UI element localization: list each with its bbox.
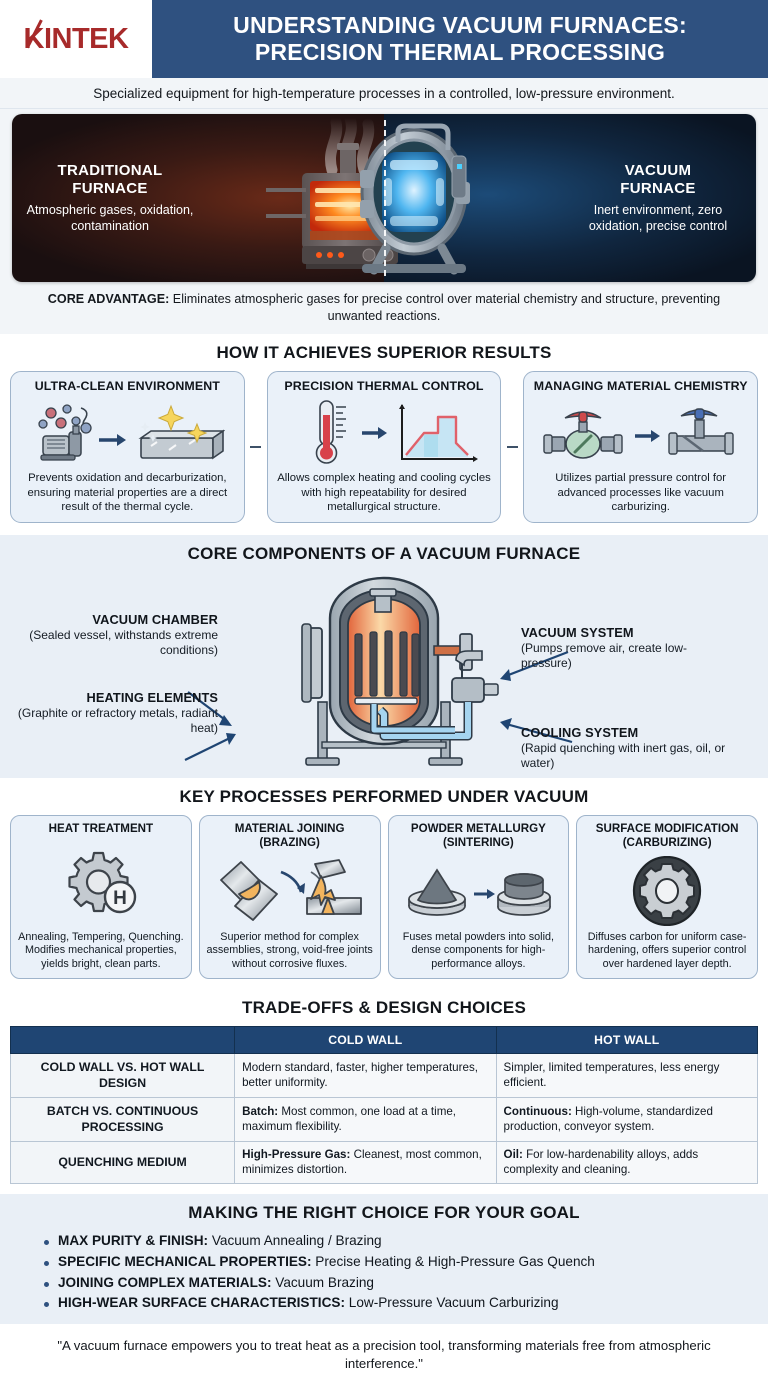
- vacuum-desc: Inert environment, zero oxidation, preci…: [570, 202, 746, 234]
- label-heating-elements: HEATING ELEMENTS (Graphite or refractory…: [8, 690, 218, 735]
- hardened-gear-icon: [628, 850, 706, 931]
- thermometer-to-thermal-curve-icon: [286, 394, 482, 471]
- label-name: COOLING SYSTEM: [521, 725, 731, 740]
- core-advantage-text: Eliminates atmospheric gases for precise…: [169, 292, 720, 323]
- tradeoffs-section-title: TRADE-OFFS & DESIGN CHOICES: [0, 989, 768, 1026]
- traditional-desc: Atmospheric gases, oxidation, contaminat…: [22, 202, 198, 234]
- brazed-joint-icon: [215, 850, 365, 931]
- cell-text: Modern standard, faster, higher temperat…: [242, 1061, 478, 1089]
- traditional-title-2: FURNACE: [22, 180, 198, 197]
- table-header-row: COLD WALL HOT WALL: [11, 1027, 758, 1054]
- tradeoffs-table: COLD WALL HOT WALL COLD WALL VS. HOT WAL…: [10, 1026, 758, 1184]
- card-managing-material-chemistry: MANAGING MATERIAL CHEMISTRY: [523, 371, 758, 523]
- how-card-row: ULTRA-CLEAN ENVIRONMENT: [0, 371, 768, 535]
- table-row: COLD WALL VS. HOT WALL DESIGN Modern sta…: [11, 1054, 758, 1098]
- core-advantage: CORE ADVANTAGE: Eliminates atmospheric g…: [0, 282, 768, 334]
- traditional-furnace-text: TRADITIONAL FURNACE Atmospheric gases, o…: [12, 162, 198, 234]
- pcard-title-2: (BRAZING): [259, 836, 320, 850]
- pcard-title-1: POWDER METALLURGY: [411, 822, 546, 836]
- card-connector-1: [245, 371, 267, 523]
- choices-list: MAX PURITY & FINISH: Vacuum Annealing / …: [0, 1231, 768, 1314]
- table-col-hot-wall: HOT WALL: [496, 1027, 757, 1054]
- label-name: VACUUM SYSTEM: [521, 625, 731, 640]
- cell-bold: High-Pressure Gas:: [242, 1148, 350, 1161]
- choice-value: Precise Heating & High-Pressure Gas Quen…: [312, 1254, 595, 1269]
- list-item: MAX PURITY & FINISH: Vacuum Annealing / …: [44, 1231, 746, 1252]
- furnace-diagram-area: VACUUM CHAMBER (Sealed vessel, withstand…: [0, 572, 768, 772]
- table-row: QUENCHING MEDIUM High-Pressure Gas: Clea…: [11, 1142, 758, 1184]
- pcard-title-1: SURFACE MODIFICATION: [596, 822, 739, 836]
- cell-bold: Oil:: [504, 1148, 523, 1161]
- card-powder-metallurgy: POWDER METALLURGY (SINTERING): [388, 815, 570, 979]
- list-item: SPECIFIC MECHANICAL PROPERTIES: Precise …: [44, 1252, 746, 1273]
- page-title: UNDERSTANDING VACUUM FURNACES: PRECISION…: [152, 0, 768, 78]
- pull-quote: "A vacuum furnace empowers you to treat …: [0, 1324, 768, 1376]
- tradeoffs-section: TRADE-OFFS & DESIGN CHOICES COLD WALL HO…: [0, 989, 768, 1194]
- label-desc: (Sealed vessel, withstands extreme condi…: [8, 628, 218, 657]
- vacuum-furnace-text: VACUUM FURNACE Inert environment, zero o…: [570, 162, 756, 234]
- choices-section-title: MAKING THE RIGHT CHOICE FOR YOUR GOAL: [0, 1194, 768, 1231]
- powder-to-compact-icon: [404, 850, 552, 931]
- cell-bold: Continuous:: [504, 1105, 572, 1118]
- table-row: BATCH VS. CONTINUOUS PROCESSING Batch: M…: [11, 1098, 758, 1142]
- card-desc: Allows complex heating and cooling cycle…: [276, 471, 493, 514]
- valve-to-valve-icon: [543, 394, 739, 471]
- choice-label: JOINING COMPLEX MATERIALS:: [58, 1275, 271, 1290]
- choice-value: Vacuum Brazing: [271, 1275, 374, 1290]
- how-section: HOW IT ACHIEVES SUPERIOR RESULTS ULTRA-C…: [0, 334, 768, 535]
- pcard-desc: Fuses metal powders into solid, dense co…: [394, 931, 564, 971]
- list-item: JOINING COMPLEX MATERIALS: Vacuum Brazin…: [44, 1273, 746, 1294]
- title-line-1: UNDERSTANDING VACUUM FURNACES:: [233, 12, 687, 39]
- choices-section: MAKING THE RIGHT CHOICE FOR YOUR GOAL MA…: [0, 1194, 768, 1324]
- row-label: COLD WALL VS. HOT WALL DESIGN: [11, 1054, 235, 1098]
- row-hot-wall-cell: Continuous: High-volume, standardized pr…: [496, 1098, 757, 1142]
- card-heat-treatment: HEAT TREATMENT H Annealing, Tempering, Q…: [10, 815, 192, 979]
- choice-label: SPECIFIC MECHANICAL PROPERTIES:: [58, 1254, 312, 1269]
- card-precision-thermal-control: PRECISION THERMAL CONTROL: [267, 371, 502, 523]
- components-section: CORE COMPONENTS OF A VACUUM FURNACE: [0, 535, 768, 778]
- label-desc: (Pumps remove air, create low-pressure): [521, 641, 731, 670]
- svg-text:H: H: [113, 888, 127, 909]
- pcard-desc: Superior method for complex assemblies, …: [205, 931, 375, 971]
- table-col-cold-wall: COLD WALL: [235, 1027, 496, 1054]
- label-vacuum-system: VACUUM SYSTEM (Pumps remove air, create …: [521, 625, 731, 670]
- kintek-logo: KINTEK: [24, 23, 129, 56]
- row-hot-wall-cell: Oil: For low-hardenability alloys, adds …: [496, 1142, 757, 1184]
- card-ultra-clean-environment: ULTRA-CLEAN ENVIRONMENT: [10, 371, 245, 523]
- label-name: HEATING ELEMENTS: [8, 690, 218, 705]
- card-title: ULTRA-CLEAN ENVIRONMENT: [35, 379, 220, 394]
- how-section-title: HOW IT ACHIEVES SUPERIOR RESULTS: [0, 334, 768, 371]
- row-label: BATCH VS. CONTINUOUS PROCESSING: [11, 1098, 235, 1142]
- comparison-divider: [384, 120, 386, 276]
- card-desc: Utilizes partial pressure control for ad…: [532, 471, 749, 514]
- processes-section: KEY PROCESSES PERFORMED UNDER VACUUM HEA…: [0, 778, 768, 989]
- header-bar: KINTEK UNDERSTANDING VACUUM FURNACES: PR…: [0, 0, 768, 78]
- comparison-section: TRADITIONAL FURNACE Atmospheric gases, o…: [0, 109, 768, 282]
- label-desc: (Rapid quenching with inert gas, oil, or…: [521, 741, 731, 770]
- cell-bold: Batch:: [242, 1105, 278, 1118]
- row-cold-wall-cell: High-Pressure Gas: Cleanest, most common…: [235, 1142, 496, 1184]
- card-title: MANAGING MATERIAL CHEMISTRY: [534, 379, 748, 394]
- pcard-desc: Diffuses carbon for uniform case-hardeni…: [582, 931, 752, 971]
- row-hot-wall-cell: Simpler, limited temperatures, less ener…: [496, 1054, 757, 1098]
- components-section-title: CORE COMPONENTS OF A VACUUM FURNACE: [0, 535, 768, 572]
- logo-container: KINTEK: [0, 0, 152, 78]
- pcard-title-1: HEAT TREATMENT: [49, 822, 154, 836]
- label-cooling-system: COOLING SYSTEM (Rapid quenching with ine…: [521, 725, 731, 770]
- infographic-page: KINTEK UNDERSTANDING VACUUM FURNACES: PR…: [0, 0, 768, 1376]
- label-desc: (Graphite or refractory metals, radiant …: [8, 706, 218, 735]
- vacuum-title-2: FURNACE: [570, 180, 746, 197]
- processes-section-title: KEY PROCESSES PERFORMED UNDER VACUUM: [0, 778, 768, 815]
- choice-value: Vacuum Annealing / Brazing: [208, 1233, 382, 1248]
- row-cold-wall-cell: Batch: Most common, one load at a time, …: [235, 1098, 496, 1142]
- card-connector-2: [501, 371, 523, 523]
- processes-card-row: HEAT TREATMENT H Annealing, Tempering, Q…: [0, 815, 768, 989]
- list-item: HIGH-WEAR SURFACE CHARACTERISTICS: Low-P…: [44, 1293, 746, 1314]
- vacuum-furnace-icon: [314, 120, 519, 276]
- vacuum-pump-to-clean-metal-icon: [29, 394, 225, 471]
- label-name: VACUUM CHAMBER: [8, 612, 218, 627]
- card-desc: Prevents oxidation and decarburization, …: [19, 471, 236, 514]
- pcard-title-2: (SINTERING): [443, 836, 514, 850]
- choice-label: MAX PURITY & FINISH:: [58, 1233, 208, 1248]
- gear-with-h-icon: H: [58, 836, 144, 931]
- label-vacuum-chamber: VACUUM CHAMBER (Sealed vessel, withstand…: [8, 612, 218, 657]
- cell-text: For low-hardenability alloys, adds compl…: [504, 1148, 699, 1176]
- choice-label: HIGH-WEAR SURFACE CHARACTERISTICS:: [58, 1295, 345, 1310]
- card-material-joining: MATERIAL JOINING (BRAZING): [199, 815, 381, 979]
- pcard-title-1: MATERIAL JOINING: [235, 822, 345, 836]
- pcard-desc: Annealing, Tempering, Quenching. Modifie…: [16, 931, 186, 971]
- traditional-title-1: TRADITIONAL: [22, 162, 198, 179]
- subtitle-text: Specialized equipment for high-temperatu…: [0, 78, 768, 109]
- title-line-2: PRECISION THERMAL PROCESSING: [255, 39, 665, 66]
- choice-value: Low-Pressure Vacuum Carburizing: [345, 1295, 559, 1310]
- vacuum-furnace-half: VACUUM FURNACE Inert environment, zero o…: [384, 114, 756, 282]
- comparison-panel: TRADITIONAL FURNACE Atmospheric gases, o…: [12, 114, 756, 282]
- tradeoffs-table-wrap: COLD WALL HOT WALL COLD WALL VS. HOT WAL…: [0, 1026, 768, 1194]
- card-title: PRECISION THERMAL CONTROL: [284, 379, 483, 394]
- row-label: QUENCHING MEDIUM: [11, 1142, 235, 1184]
- pcard-title-2: (CARBURIZING): [623, 836, 712, 850]
- vacuum-title-1: VACUUM: [570, 162, 746, 179]
- cell-text: Simpler, limited temperatures, less ener…: [504, 1061, 720, 1089]
- core-advantage-label: CORE ADVANTAGE:: [48, 292, 170, 306]
- card-surface-modification: SURFACE MODIFICATION (CARBURIZING) Diffu…: [576, 815, 758, 979]
- table-col-blank: [11, 1027, 235, 1054]
- row-cold-wall-cell: Modern standard, faster, higher temperat…: [235, 1054, 496, 1098]
